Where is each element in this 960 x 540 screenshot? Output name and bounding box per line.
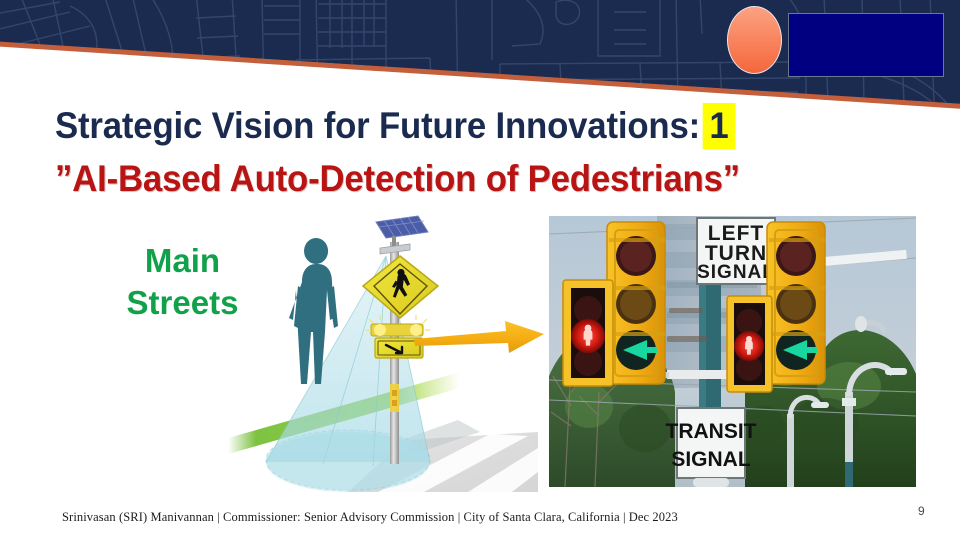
svg-text:TRANSIT: TRANSIT [666, 420, 757, 443]
svg-text:SIGNAL: SIGNAL [671, 448, 751, 471]
page-title-text: Strategic Vision for Future Innovations: [55, 105, 700, 146]
orange-ellipse-decoration [727, 6, 782, 74]
page-title: Strategic Vision for Future Innovations:… [55, 104, 735, 148]
pedestrian-signal-left [563, 280, 613, 386]
page-subtitle: ”AI-Based Auto-Detection of Pedestrians” [55, 157, 740, 201]
svg-text:SIGNAL: SIGNAL [697, 262, 775, 283]
flow-arrow-right [410, 312, 550, 360]
page-title-highlight: 1 [703, 103, 735, 149]
sign-left-turn-signal: LEFT TURN SIGNAL [697, 218, 775, 284]
footer-attribution: Srinivasan (SRI) Manivannan | Commission… [62, 510, 678, 525]
header-banner [0, 0, 960, 112]
traffic-signal-photo: LEFT TURN SIGNAL TRANSIT SIGNAL [549, 216, 916, 487]
pedestrian-signal-right [727, 296, 772, 392]
traffic-signal-head-right [767, 222, 825, 384]
slide: Strategic Vision for Future Innovations:… [0, 0, 960, 540]
traffic-signal-head-left [607, 222, 665, 384]
sign-transit-signal: TRANSIT SIGNAL [666, 408, 757, 487]
solar-panel [376, 216, 428, 254]
page-number: 9 [918, 504, 925, 518]
navy-rectangle-placeholder [788, 13, 944, 77]
